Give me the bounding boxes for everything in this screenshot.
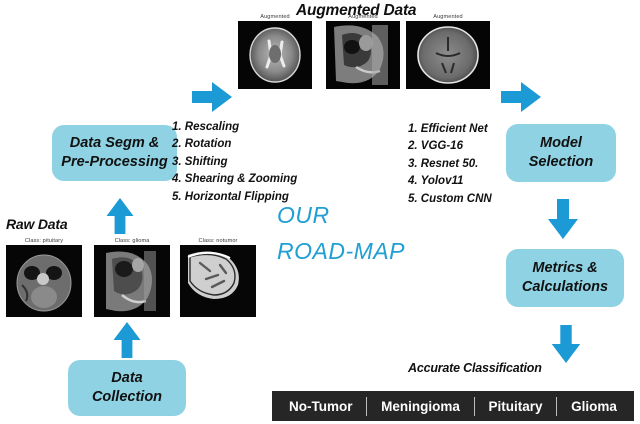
arrow-collection-to-raw [113, 322, 141, 358]
augmented-mri-image-2 [326, 21, 400, 89]
augmented-thumbnail-3: Augmented [406, 14, 490, 89]
model-candidate: 2. VGG-16 [408, 138, 492, 155]
augmentation-steps-list: 1. Rescaling 2. Rotation 3. Shifting 4. … [172, 119, 297, 206]
arrow-to-model-selection [501, 82, 541, 112]
stage-data-segmentation-label: Data Segm & Pre-Processing [61, 134, 167, 171]
roadmap-figure: Augmented Data Augmented Augme [0, 0, 640, 424]
arrow-up-icon [113, 322, 141, 358]
arrow-up-icon [106, 198, 134, 234]
mri-sagittal-glyph [326, 21, 400, 89]
stage-data-collection[interactable]: Data Collection [68, 360, 186, 416]
stage-data-segmentation[interactable]: Data Segm & Pre-Processing [52, 125, 177, 181]
roadmap-slogan-line2: ROAD-MAP [277, 234, 405, 270]
model-candidates-list: 1. Efficient Net 2. VGG-16 3. Resnet 50.… [408, 121, 492, 208]
model-candidate: 4. Yolov11 [408, 173, 492, 190]
raw-mri-image-glioma [94, 245, 170, 317]
class-label-glioma[interactable]: Glioma [564, 399, 624, 414]
mri-glioma-glyph [94, 245, 170, 317]
model-candidate: 5. Custom CNN [408, 191, 492, 208]
raw-thumbnail-3: Class: notumor [180, 238, 256, 317]
arrow-right-icon [501, 82, 541, 112]
augmented-mri-image-1 [238, 21, 312, 89]
stage-model-selection-label: Model Selection [529, 134, 593, 171]
augmented-thumbnail-1: Augmented [238, 14, 312, 89]
augmentation-step: 4. Shearing & Zooming [172, 171, 297, 188]
accurate-classification-label: Accurate Classification [408, 361, 542, 375]
arrow-to-augmented [192, 82, 232, 112]
augmentation-step: 3. Shifting [172, 154, 297, 171]
mri-axial-glyph [238, 21, 312, 89]
mri-pituitary-glyph [6, 245, 82, 317]
raw-data-title: Raw Data [6, 216, 67, 232]
augmented-thumbnail-1-caption: Augmented [238, 14, 312, 20]
raw-thumbnail-1-caption: Class: pituitary [6, 238, 82, 244]
classification-result-bar: No-Tumor Meningioma Pituitary Glioma [272, 391, 634, 421]
augmentation-step: 1. Rescaling [172, 119, 297, 136]
stage-model-selection[interactable]: Model Selection [506, 124, 616, 182]
class-label-pituitary[interactable]: Pituitary [482, 399, 550, 414]
class-divider [474, 397, 475, 416]
raw-mri-image-pituitary [6, 245, 82, 317]
augmentation-step: 2. Rotation [172, 136, 297, 153]
class-divider [556, 397, 557, 416]
stage-metrics-calculations[interactable]: Metrics & Calculations [506, 249, 624, 307]
roadmap-slogan: OUR ROAD-MAP [277, 198, 405, 269]
arrow-to-metrics [548, 199, 578, 239]
arrow-down-icon [548, 199, 578, 239]
mri-notumor-glyph [180, 245, 256, 317]
arrow-right-icon [192, 82, 232, 112]
model-candidate: 1. Efficient Net [408, 121, 492, 138]
raw-thumbnail-2: Class: glioma [94, 238, 170, 317]
raw-thumbnail-3-caption: Class: notumor [180, 238, 256, 244]
augmented-thumbnail-2: Augmented [326, 14, 400, 89]
class-label-no-tumor[interactable]: No-Tumor [282, 399, 360, 414]
raw-thumbnail-2-caption: Class: glioma [94, 238, 170, 244]
raw-thumbnail-1: Class: pituitary [6, 238, 82, 317]
arrow-raw-to-segmentation [106, 198, 134, 234]
augmented-thumbnail-3-caption: Augmented [406, 14, 490, 20]
class-divider [366, 397, 367, 416]
augmented-thumbnail-2-caption: Augmented [326, 14, 400, 20]
augmented-mri-image-3 [406, 21, 490, 89]
stage-data-collection-label: Data Collection [92, 369, 162, 406]
raw-mri-image-notumor [180, 245, 256, 317]
arrow-to-classification [551, 325, 581, 363]
mri-axial-glyph-2 [406, 21, 490, 89]
model-candidate: 3. Resnet 50. [408, 156, 492, 173]
roadmap-slogan-line1: OUR [277, 198, 405, 234]
stage-metrics-calculations-label: Metrics & Calculations [522, 259, 608, 296]
class-label-meningioma[interactable]: Meningioma [374, 399, 467, 414]
arrow-down-icon [551, 325, 581, 363]
